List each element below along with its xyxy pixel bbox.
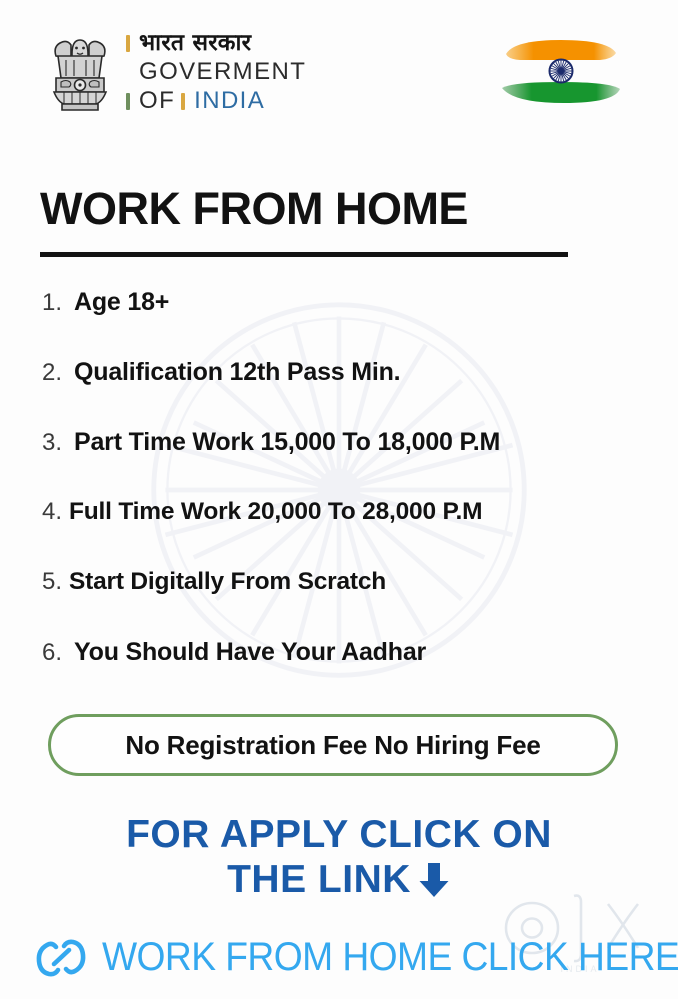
no-fee-notice-badge: No Registration Fee No Hiring Fee bbox=[48, 714, 618, 776]
requirements-list: 1. Age 18+ 2. Qualification 12th Pass Mi… bbox=[42, 288, 642, 708]
list-item-number: 1. bbox=[42, 289, 74, 317]
hindi-title-line: भारत सरकार bbox=[126, 32, 306, 55]
list-item: 6. You Should Have Your Aadhar bbox=[42, 638, 642, 708]
poster-canvas: भारत सरकार GOVERMENT OF INDIA bbox=[0, 0, 678, 999]
list-item-label: Age 18+ bbox=[74, 288, 169, 317]
list-item: 4. Full Time Work 20,000 To 28,000 P.M bbox=[42, 498, 642, 568]
saffron-accent-bar-2 bbox=[181, 93, 185, 110]
chain-link-icon bbox=[34, 933, 88, 983]
page-title: WORK FROM HOME bbox=[40, 186, 568, 231]
green-accent-bar bbox=[126, 93, 130, 110]
list-item-number: 6. bbox=[42, 639, 74, 667]
list-item-label: Full Time Work 20,000 To 28,000 P.M bbox=[69, 498, 482, 526]
government-word: GOVERMENT bbox=[139, 58, 306, 86]
list-item: 2. Qualification 12th Pass Min. bbox=[42, 358, 642, 428]
cta-line-2: THE LINK bbox=[227, 857, 411, 902]
list-item-number: 5. bbox=[42, 568, 69, 596]
list-item-label: Part Time Work 15,000 To 18,000 P.M bbox=[74, 428, 500, 457]
call-to-action-block: FOR APPLY CLICK ON THE LINK bbox=[0, 812, 678, 902]
list-item: 1. Age 18+ bbox=[42, 288, 642, 358]
saffron-accent-bar bbox=[126, 35, 130, 52]
government-text-block: भारत सरकार GOVERMENT OF INDIA bbox=[126, 26, 306, 113]
down-arrow-icon bbox=[417, 861, 451, 899]
no-fee-notice-label: No Registration Fee No Hiring Fee bbox=[125, 730, 540, 761]
of-india-line: OF INDIA bbox=[126, 89, 306, 113]
ashoka-lion-capital-emblem bbox=[48, 26, 112, 118]
india-tricolor-flag-brushstroke bbox=[496, 28, 626, 114]
list-item-label: Start Digitally From Scratch bbox=[69, 568, 386, 596]
india-word: INDIA bbox=[194, 89, 265, 113]
apply-link-bar[interactable]: WORK FROM HOME CLICK HERE bbox=[0, 916, 678, 999]
title-block: WORK FROM HOME bbox=[40, 186, 568, 257]
apply-link-label[interactable]: WORK FROM HOME CLICK HERE bbox=[102, 935, 678, 980]
hindi-title: भारत सरकार bbox=[139, 32, 251, 55]
cta-line-1: FOR APPLY CLICK ON bbox=[0, 812, 678, 857]
list-item: 5. Start Digitally From Scratch bbox=[42, 568, 642, 638]
list-item-label: You Should Have Your Aadhar bbox=[74, 638, 426, 667]
title-underline bbox=[40, 252, 568, 257]
cta-line-2-row: THE LINK bbox=[0, 857, 678, 902]
list-item-number: 2. bbox=[42, 359, 74, 387]
list-item: 3. Part Time Work 15,000 To 18,000 P.M bbox=[42, 428, 642, 498]
list-item-number: 3. bbox=[42, 429, 74, 457]
list-item-label: Qualification 12th Pass Min. bbox=[74, 358, 400, 387]
of-word: OF bbox=[139, 89, 175, 113]
government-header: भारत सरकार GOVERMENT OF INDIA bbox=[0, 0, 678, 142]
government-of-india-lockup: भारत सरकार GOVERMENT OF INDIA bbox=[48, 26, 306, 118]
list-item-number: 4. bbox=[42, 498, 69, 526]
